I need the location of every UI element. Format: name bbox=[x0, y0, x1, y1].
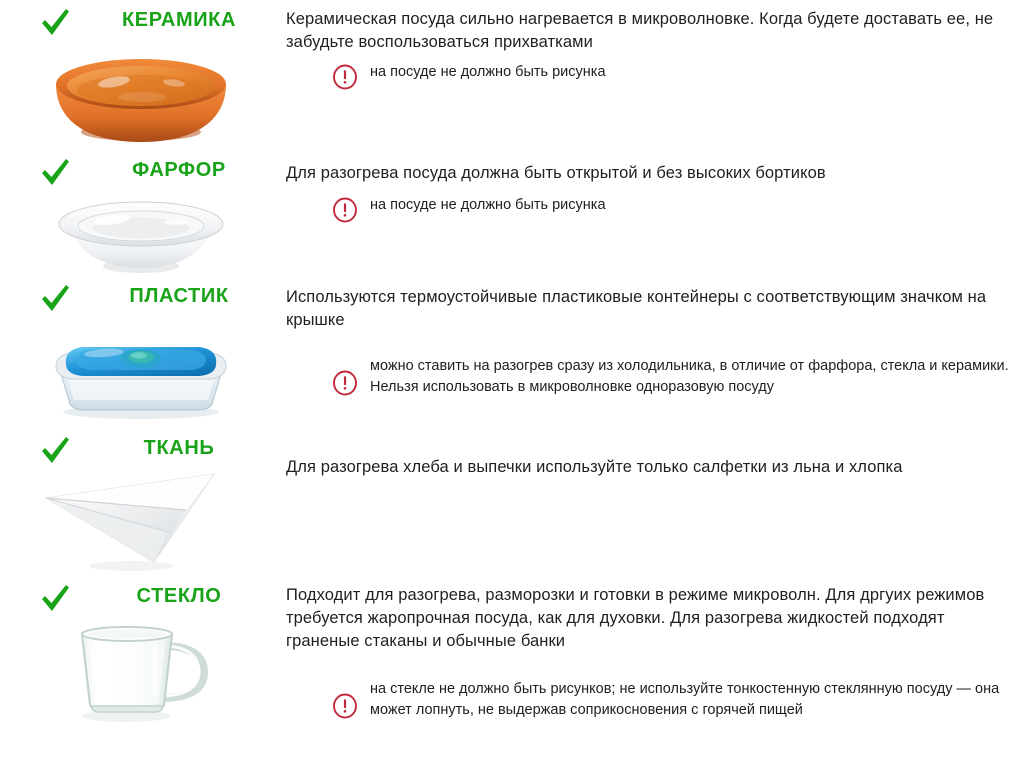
section-plastic-right: Используются термоустойчивые пластиковые… bbox=[286, 286, 1016, 398]
cloth-napkin-image bbox=[0, 458, 282, 576]
material-label: КЕРАМИКА bbox=[84, 9, 274, 32]
material-label: СТЕКЛО bbox=[84, 585, 274, 608]
warning-note-text: на стекле не должно быть рисунков; не ис… bbox=[370, 679, 1016, 721]
exclamation-circle-icon bbox=[332, 64, 358, 90]
section-cloth-right: Для разогрева хлеба и выпечки используйт… bbox=[286, 456, 1016, 479]
infographic-sheet: КЕРАМИКА bbox=[0, 0, 1024, 768]
warning-note: на посуде не должно быть рисунка bbox=[286, 62, 1016, 92]
ceramic-bowl-image bbox=[0, 50, 282, 146]
section-glass-right: Подходит для разогрева, разморозки и гот… bbox=[286, 584, 1016, 721]
description-text: Керамическая посуда сильно нагревается в… bbox=[286, 8, 1016, 54]
description-text: Используются термоустойчивые пластиковые… bbox=[286, 286, 1016, 332]
material-label: ФАРФОР bbox=[84, 159, 274, 182]
plastic-container-image bbox=[0, 326, 282, 422]
warning-note-text: на посуде не должно быть рисунка bbox=[370, 62, 1016, 83]
check-mark-icon bbox=[38, 282, 72, 316]
section-plastic-heading: ПЛАСТИК bbox=[0, 282, 282, 316]
section-ceramics-heading: КЕРАМИКА bbox=[0, 6, 282, 40]
glass-mug-image bbox=[0, 608, 282, 726]
exclamation-circle-icon bbox=[332, 693, 358, 719]
material-label: ТКАНЬ bbox=[84, 437, 274, 460]
check-mark-icon bbox=[38, 6, 72, 40]
description-text: Для разогрева посуда должна быть открыто… bbox=[286, 162, 1016, 185]
exclamation-circle-icon bbox=[332, 370, 358, 396]
warning-note-text: можно ставить на разогрев сразу из холод… bbox=[370, 356, 1016, 398]
section-ceramics-right: Керамическая посуда сильно нагревается в… bbox=[286, 8, 1016, 92]
exclamation-circle-icon bbox=[332, 197, 358, 223]
description-text: Подходит для разогрева, разморозки и гот… bbox=[286, 584, 1016, 653]
section-porcelain-right: Для разогрева посуда должна быть открыто… bbox=[286, 162, 1016, 225]
description-text: Для разогрева хлеба и выпечки используйт… bbox=[286, 456, 1016, 479]
section-porcelain-heading: ФАРФОР bbox=[0, 156, 282, 190]
check-mark-icon bbox=[38, 156, 72, 190]
warning-note-text: на посуде не должно быть рисунка bbox=[370, 195, 1016, 216]
porcelain-plate-image bbox=[0, 194, 282, 280]
warning-note: можно ставить на разогрев сразу из холод… bbox=[286, 356, 1016, 398]
warning-note: на стекле не должно быть рисунков; не ис… bbox=[286, 679, 1016, 721]
warning-note: на посуде не должно быть рисунка bbox=[286, 195, 1016, 225]
material-label: ПЛАСТИК bbox=[84, 285, 274, 308]
